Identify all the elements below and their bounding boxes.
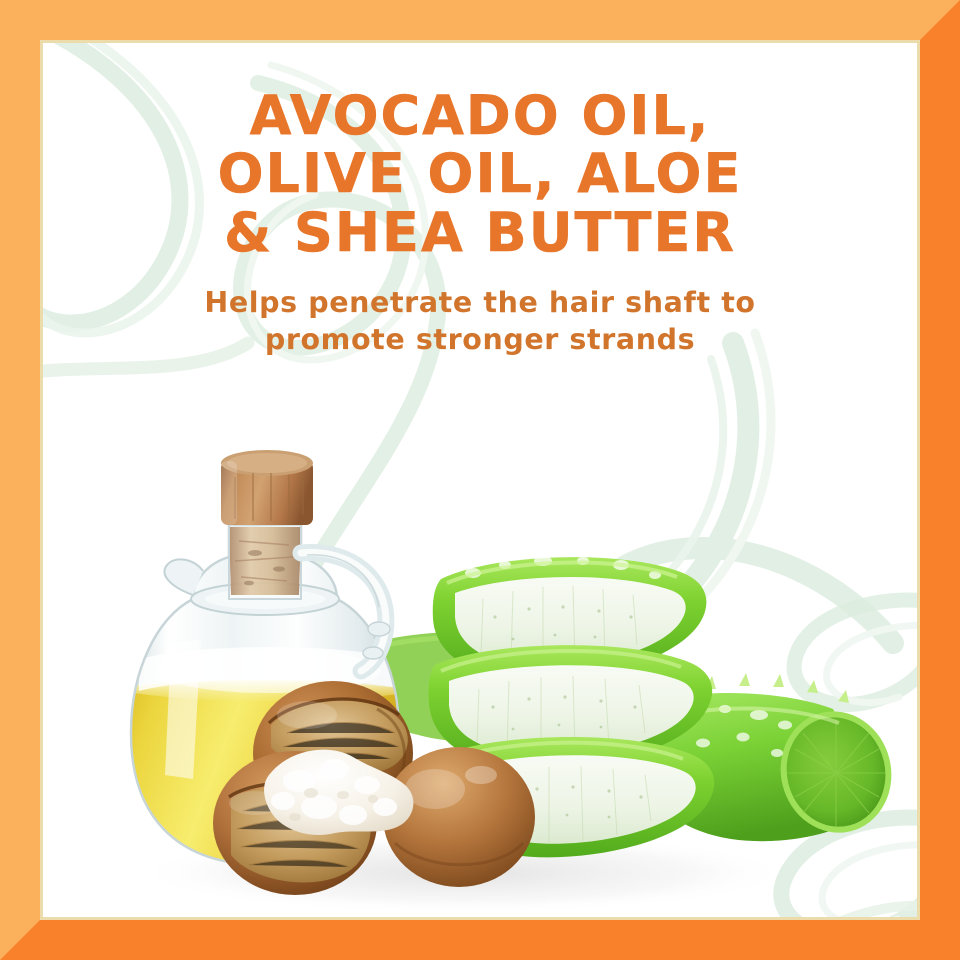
bottle-cork-stopper — [221, 450, 313, 525]
banner-canvas: AVOCADO OIL, OLIVE OIL, ALOE & SHEA BUTT… — [43, 43, 917, 917]
ingredient-photo-composition — [43, 403, 917, 917]
subtitle-line-1: Helps penetrate the hair shaft to — [43, 284, 917, 321]
headline-line-1: AVOCADO OIL, — [43, 87, 917, 145]
subtitle: Helps penetrate the hair shaft to promot… — [43, 284, 917, 358]
headline-line-3: & SHEA BUTTER — [43, 204, 917, 262]
text-block: AVOCADO OIL, OLIVE OIL, ALOE & SHEA BUTT… — [43, 87, 917, 358]
subtitle-line-2: promote stronger strands — [43, 321, 917, 358]
page-title: AVOCADO OIL, OLIVE OIL, ALOE & SHEA BUTT… — [43, 87, 917, 262]
headline-line-2: OLIVE OIL, ALOE — [43, 145, 917, 203]
ingredient-banner: AVOCADO OIL, OLIVE OIL, ALOE & SHEA BUTT… — [0, 0, 960, 960]
